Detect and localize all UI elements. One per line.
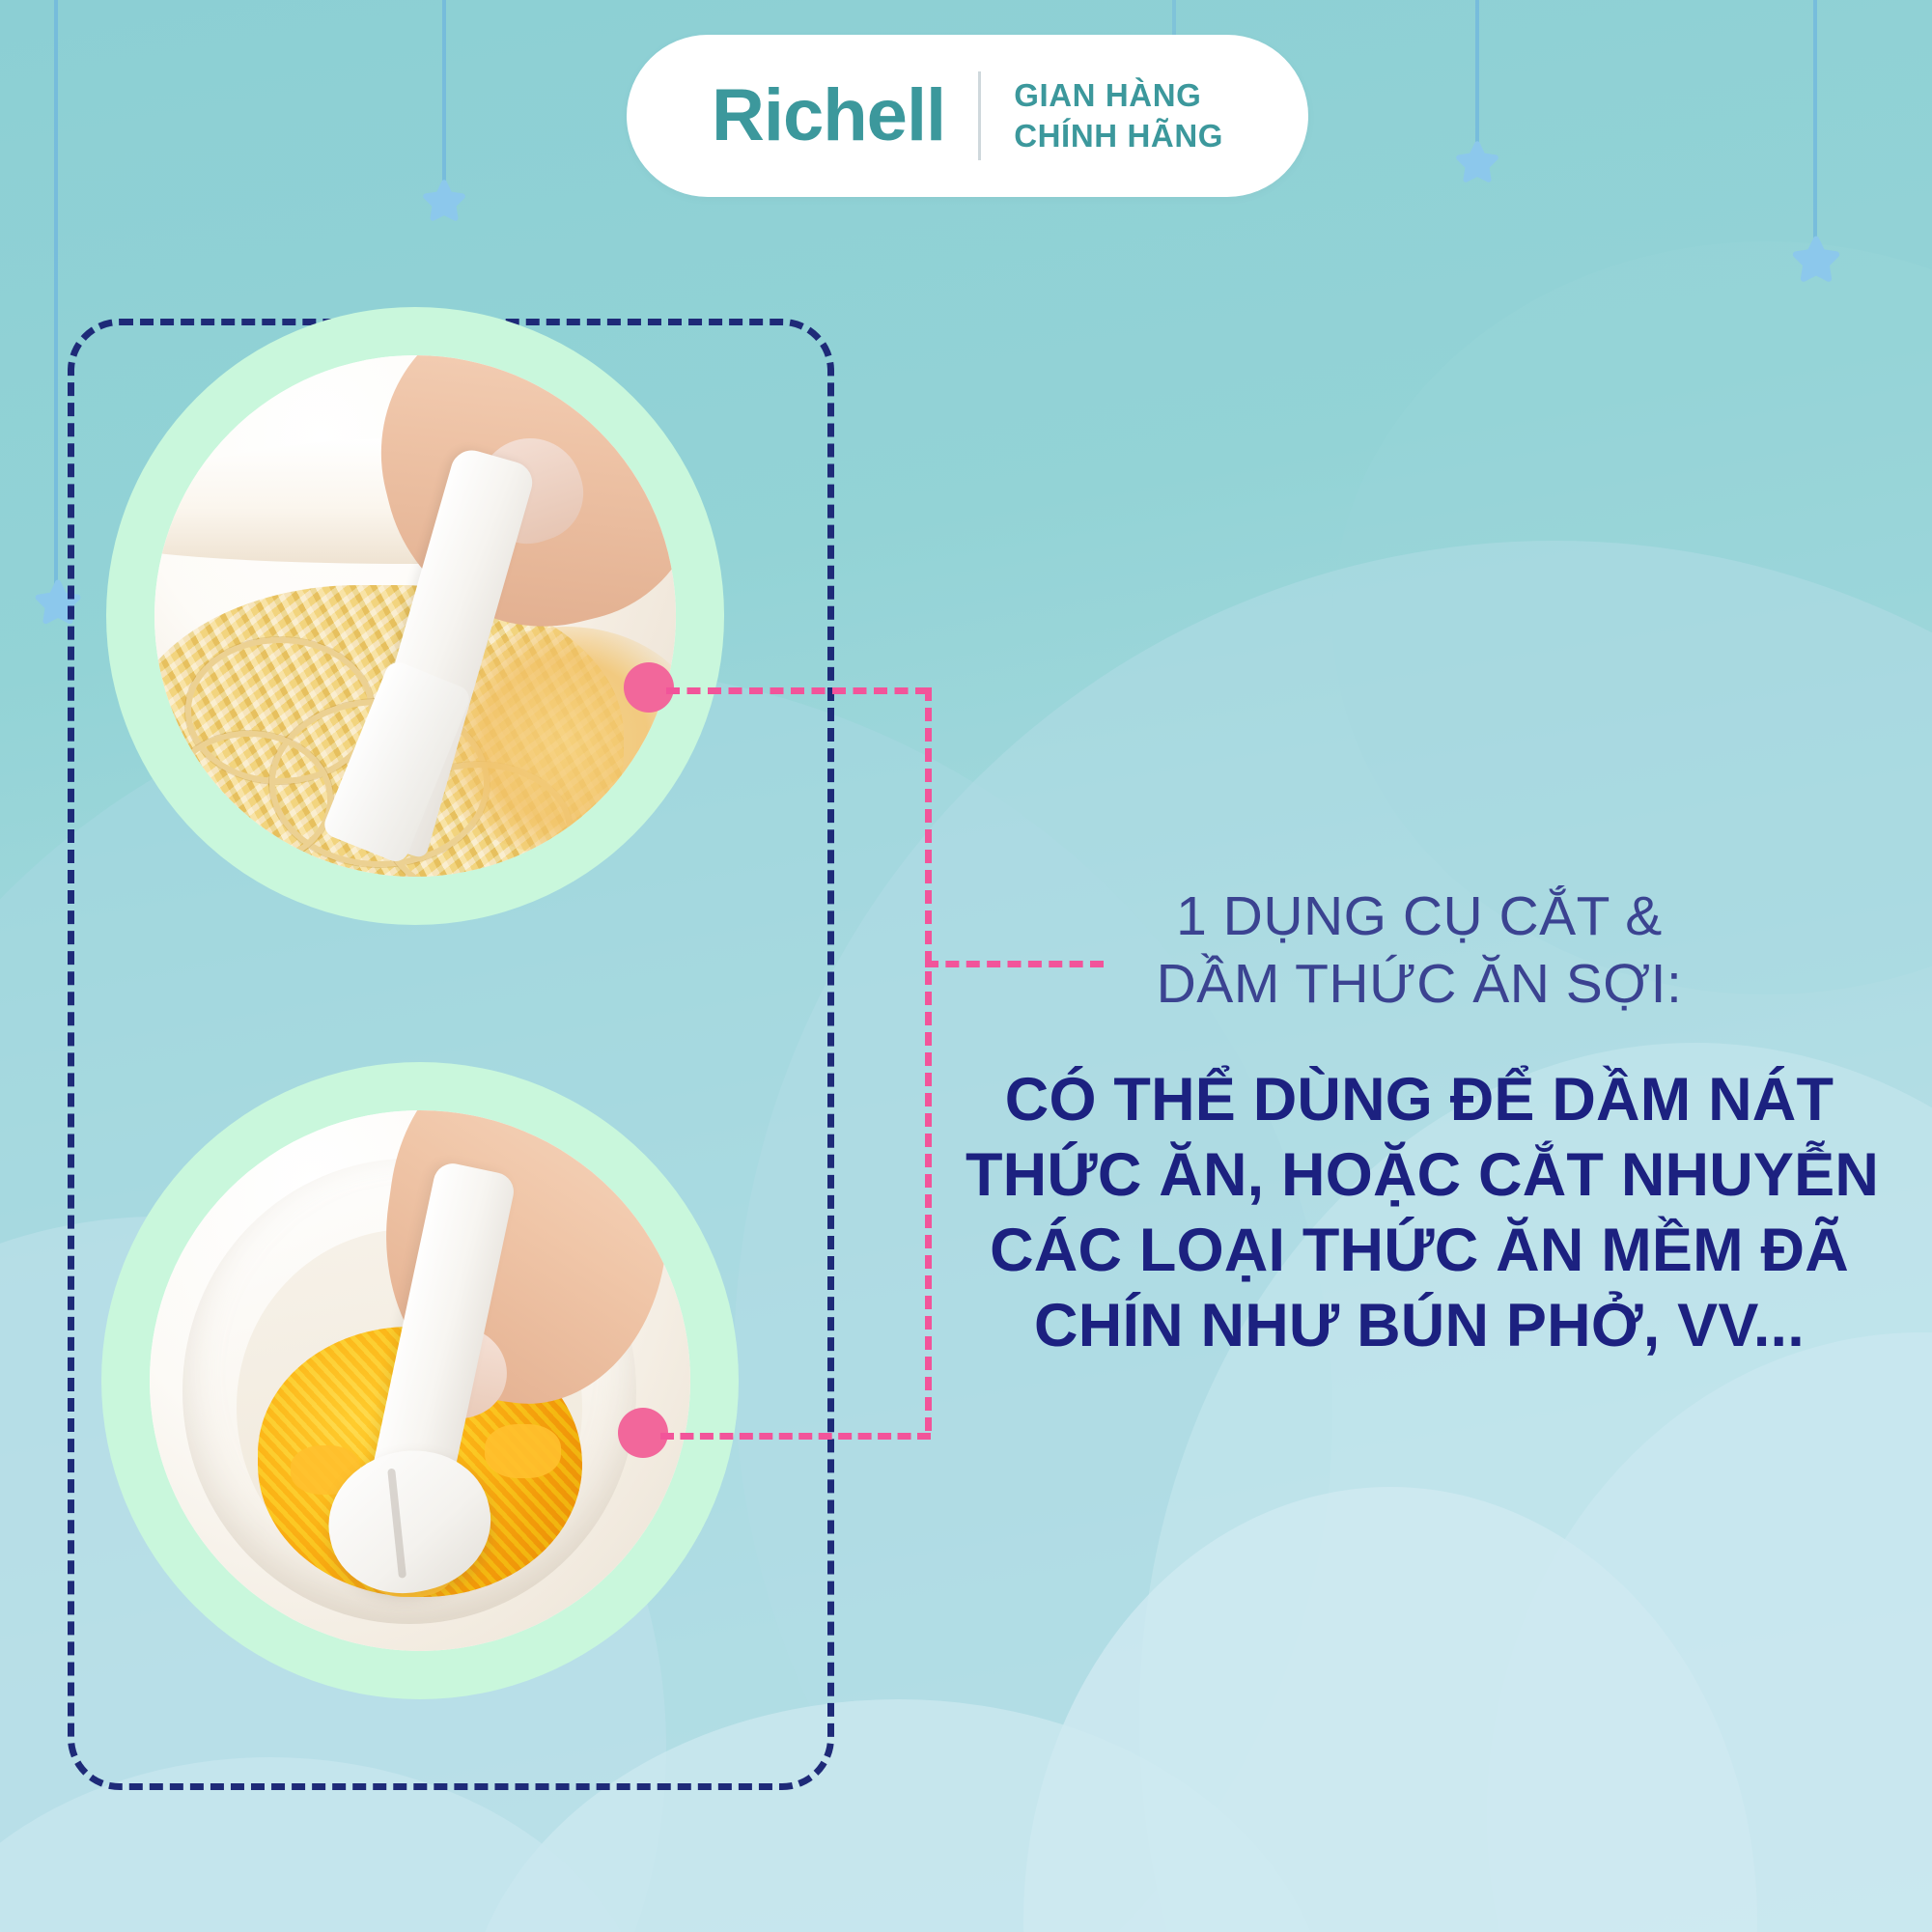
tagline-line-2: CHÍNH HÃNG xyxy=(1014,116,1223,156)
body-line-4: CHÍN NHƯ BÚN PHỞ, VV... xyxy=(966,1288,1873,1363)
hanging-string xyxy=(442,0,446,191)
headline-line-2: DẦM THỨC ĂN SỢI: xyxy=(966,951,1873,1019)
background-blob xyxy=(1023,1487,1757,1932)
photo-layer-noodle-loop xyxy=(165,731,333,868)
connector-line-top-horizontal xyxy=(666,687,929,694)
background-blob xyxy=(1487,1332,1932,1932)
brand-name: Richell xyxy=(712,79,978,153)
connector-line-bottom-horizontal xyxy=(660,1433,931,1440)
brand-logo-pill: Richell GIAN HÀNG CHÍNH HÃNG xyxy=(627,35,1308,197)
tagline-line-1: GIAN HÀNG xyxy=(1014,75,1223,116)
hanging-string xyxy=(54,0,58,589)
body-line-3: CÁC LOẠI THỨC ĂN MỀM ĐÃ xyxy=(966,1213,1873,1288)
star-icon xyxy=(417,176,471,230)
body-line-2: THỨC ĂN, HOẶC CẮT NHUYỄN xyxy=(966,1137,1873,1213)
background-blob xyxy=(1332,241,1932,994)
hanging-string xyxy=(1475,0,1479,153)
star-icon xyxy=(1450,137,1504,191)
product-photo-noodles xyxy=(154,355,676,877)
hanging-string xyxy=(1813,0,1817,249)
connector-line-vertical xyxy=(925,687,932,1431)
body-line-1: CÓ THỂ DÙNG ĐỂ DẦM NÁT xyxy=(966,1062,1873,1137)
body-copy: CÓ THỂ DÙNG ĐỂ DẦM NÁT THỨC ĂN, HOẶC CẮT… xyxy=(966,1062,1873,1363)
headline-line-1: 1 DỤNG CỤ CẮT & xyxy=(966,883,1873,951)
product-photo-puree xyxy=(150,1110,690,1651)
brand-tagline: GIAN HÀNG CHÍNH HÃNG xyxy=(981,75,1223,155)
headline: 1 DỤNG CỤ CẮT & DẦM THỨC ĂN SỢI: xyxy=(966,883,1873,1018)
photo-layer-puree-chunk xyxy=(485,1424,560,1478)
poster-canvas: Richell GIAN HÀNG CHÍNH HÃNG xyxy=(0,0,1932,1932)
star-icon xyxy=(1786,232,1846,292)
photo-ring-puree xyxy=(101,1062,739,1699)
copy-block: 1 DỤNG CỤ CẮT & DẦM THỨC ĂN SỢI: CÓ THỂ … xyxy=(966,883,1873,1364)
photo-ring-noodles xyxy=(106,307,724,925)
